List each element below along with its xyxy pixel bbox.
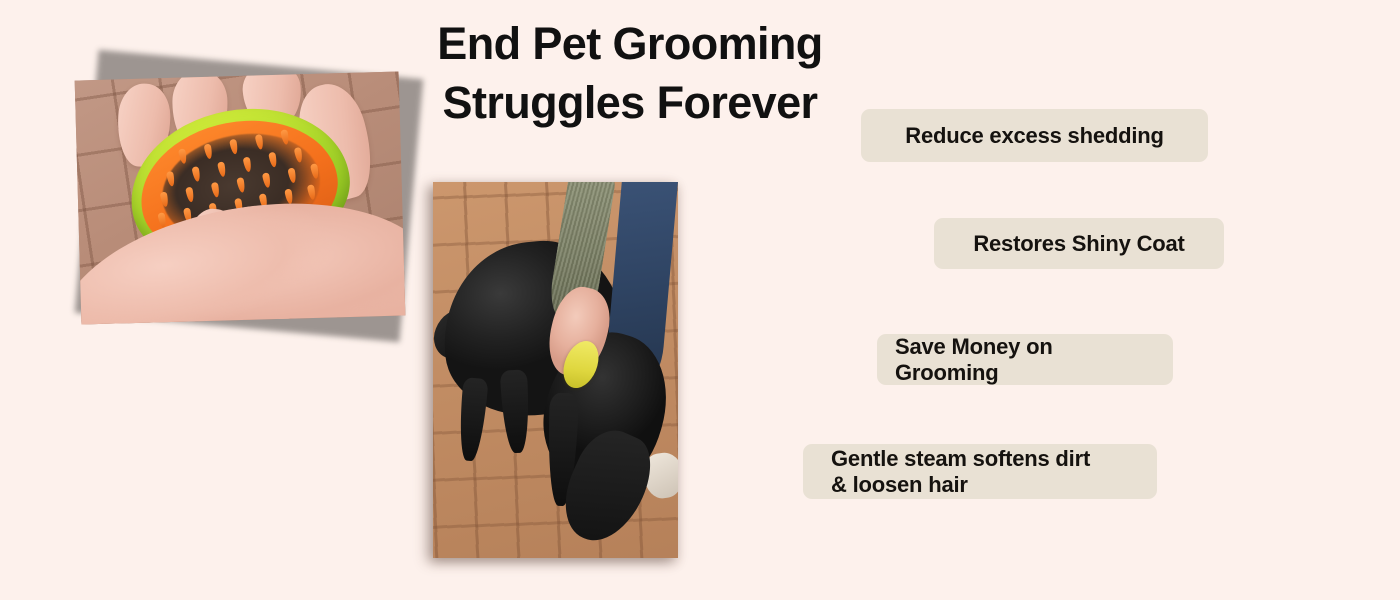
promo-banner: End Pet Grooming Struggles Forever Reduc… (0, 0, 1400, 600)
brush-pin (178, 149, 188, 165)
brush-pin (242, 157, 252, 173)
feature-badge-shiny-coat: Restores Shiny Coat (934, 218, 1224, 269)
photo-brush-image (75, 72, 406, 325)
brush-pin (160, 192, 170, 208)
brush-pin (262, 173, 272, 189)
brush-pin (268, 152, 278, 168)
brush-pin (166, 171, 176, 187)
feature-badge-save-money: Save Money on Grooming (877, 334, 1173, 385)
page-title: End Pet Grooming Struggles Forever (360, 14, 900, 132)
brush-pin (280, 130, 290, 146)
brush-pin (236, 178, 246, 194)
brush-pin (307, 184, 317, 200)
brush-pin (211, 182, 221, 198)
photo-dog-being-groomed (433, 182, 678, 558)
brush-pin (310, 164, 320, 180)
brush-pin (255, 134, 265, 150)
brush-pin (191, 166, 201, 182)
brush-pin (287, 168, 297, 184)
brush-pin (293, 147, 303, 163)
brush-pin (185, 187, 195, 203)
brush-pin (217, 161, 227, 177)
brush-pin (229, 139, 239, 155)
feature-badge-gentle-steam: Gentle steam softens dirt & loosen hair (803, 444, 1157, 499)
brush-pin (204, 144, 214, 160)
feature-badge-reduce-shedding: Reduce excess shedding (861, 109, 1208, 162)
brush-pin (285, 188, 295, 204)
